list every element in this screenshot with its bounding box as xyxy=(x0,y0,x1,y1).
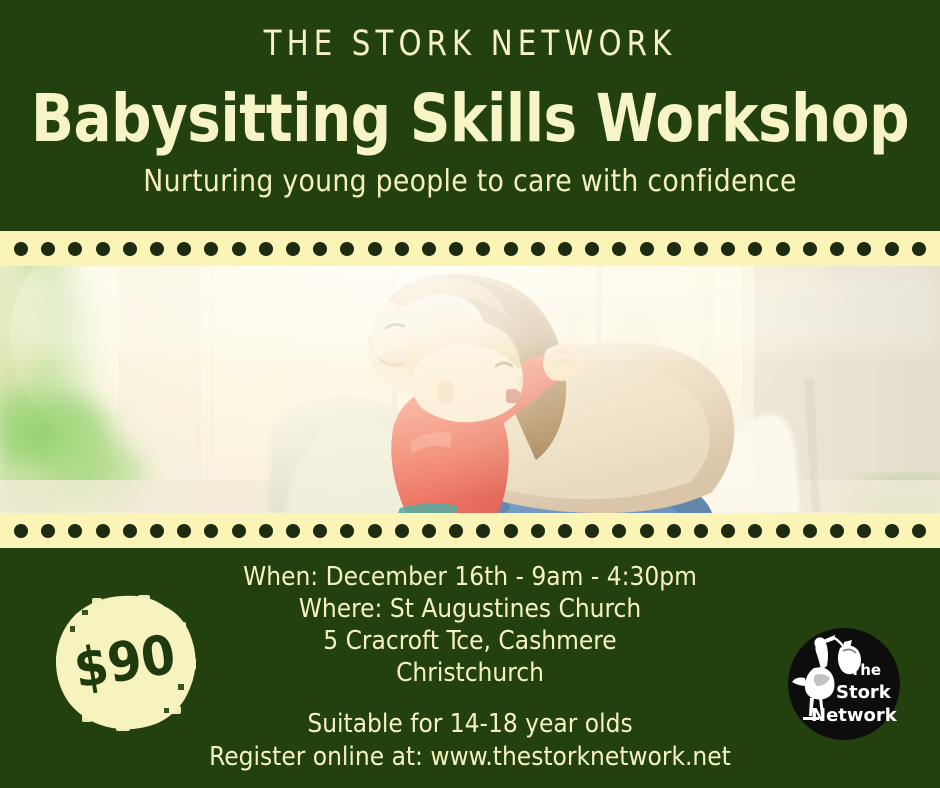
band-dot xyxy=(748,524,762,538)
band-dot xyxy=(41,524,55,538)
dot-band-bottom xyxy=(0,513,940,548)
band-dot xyxy=(667,242,681,256)
band-dot xyxy=(368,242,382,256)
band-dot xyxy=(286,524,300,538)
detail-line: 5 Cracroft Tce, Cashmere xyxy=(170,625,770,657)
band-dot xyxy=(694,524,708,538)
band-dot xyxy=(830,524,844,538)
band-dot xyxy=(885,242,899,256)
band-dot xyxy=(640,524,654,538)
band-dot xyxy=(476,524,490,538)
band-dot xyxy=(776,242,790,256)
band-dot xyxy=(776,524,790,538)
band-dot xyxy=(68,242,82,256)
band-dot xyxy=(476,242,490,256)
band-dot xyxy=(558,524,572,538)
band-dot xyxy=(150,524,164,538)
event-details: When: December 16th - 9am - 4:30pm Where… xyxy=(170,561,770,689)
band-dot xyxy=(585,524,599,538)
band-dot xyxy=(422,524,436,538)
band-dot xyxy=(313,524,327,538)
logo-line-2: Stork xyxy=(836,682,892,703)
band-dot xyxy=(422,242,436,256)
band-dot xyxy=(177,242,191,256)
band-dot xyxy=(585,242,599,256)
band-dot xyxy=(504,524,518,538)
detail-line: When: December 16th - 9am - 4:30pm xyxy=(170,561,770,593)
band-dot xyxy=(96,242,110,256)
band-dot xyxy=(340,242,354,256)
price-badge-circle: $90 xyxy=(52,592,200,732)
band-dot xyxy=(232,242,246,256)
poster-header: THE STORK NETWORK Babysitting Skills Wor… xyxy=(0,0,940,231)
band-dot xyxy=(857,242,871,256)
band-dot xyxy=(41,242,55,256)
band-dot xyxy=(395,242,409,256)
band-dot xyxy=(177,524,191,538)
detail-line: Where: St Augustines Church xyxy=(170,593,770,625)
band-dot xyxy=(531,242,545,256)
dot-row xyxy=(0,513,940,548)
band-dot xyxy=(340,524,354,538)
hero-photo-illustration xyxy=(0,266,940,513)
band-dot xyxy=(232,524,246,538)
band-dot xyxy=(640,242,654,256)
price-badge: $90 xyxy=(52,592,200,732)
band-dot xyxy=(912,524,926,538)
band-dot xyxy=(748,242,762,256)
band-dot xyxy=(830,242,844,256)
registration-url[interactable]: Register online at: www.thestorknetwork.… xyxy=(140,741,800,774)
band-dot xyxy=(368,524,382,538)
band-dot xyxy=(912,242,926,256)
band-dot xyxy=(68,524,82,538)
band-dot xyxy=(803,242,817,256)
band-dot xyxy=(14,242,28,256)
logo-line-3: Network xyxy=(811,705,898,726)
band-dot xyxy=(123,524,137,538)
band-dot xyxy=(612,242,626,256)
band-dot xyxy=(504,242,518,256)
poster: THE STORK NETWORK Babysitting Skills Wor… xyxy=(0,0,940,788)
band-dot xyxy=(721,524,735,538)
band-dot xyxy=(721,242,735,256)
band-dot xyxy=(694,242,708,256)
band-dot xyxy=(259,524,273,538)
band-dot xyxy=(558,242,572,256)
band-dot xyxy=(14,524,28,538)
audience-note: Suitable for 14-18 year olds xyxy=(170,708,770,741)
band-dot xyxy=(857,524,871,538)
logo[interactable]: The Stork Network xyxy=(788,628,900,740)
logo-badge: The Stork Network xyxy=(788,628,900,740)
band-dot xyxy=(96,524,110,538)
band-dot xyxy=(531,524,545,538)
band-dot xyxy=(395,524,409,538)
brand-name: THE STORK NETWORK xyxy=(33,24,907,64)
band-dot xyxy=(449,242,463,256)
band-dot xyxy=(150,242,164,256)
band-dot xyxy=(204,242,218,256)
band-dot xyxy=(667,524,681,538)
dot-row xyxy=(0,231,940,266)
band-dot xyxy=(259,242,273,256)
band-dot xyxy=(313,242,327,256)
page-title: Babysitting Skills Workshop xyxy=(24,84,917,153)
band-dot xyxy=(885,524,899,538)
detail-line: Christchurch xyxy=(170,657,770,689)
tagline: Nurturing young people to care with conf… xyxy=(5,164,936,199)
band-dot xyxy=(123,242,137,256)
band-dot xyxy=(612,524,626,538)
logo-line-1: The xyxy=(850,661,881,679)
hero-photo xyxy=(0,266,940,513)
band-dot xyxy=(803,524,817,538)
band-dot xyxy=(449,524,463,538)
band-dot xyxy=(286,242,300,256)
dot-band-top xyxy=(0,231,940,266)
band-dot xyxy=(204,524,218,538)
